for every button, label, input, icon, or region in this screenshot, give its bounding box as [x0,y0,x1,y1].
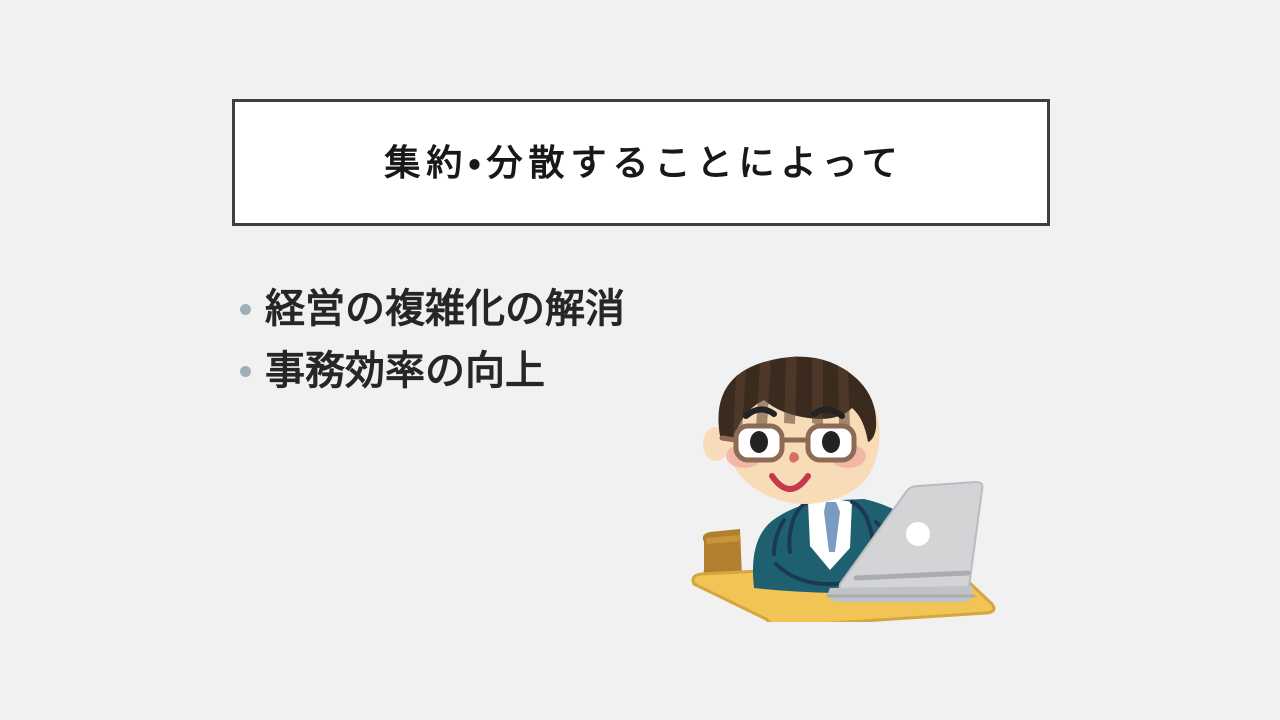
list-item: 事務効率の向上 [240,340,710,402]
list-item: 経営の複雑化の解消 [240,278,710,340]
businessman-laptop-illustration [680,352,1000,622]
bullet-list: 経営の複雑化の解消 事務効率の向上 [240,278,710,402]
slide-canvas: 集約・分散することによって 経営の複雑化の解消 事務効率の向上 [0,0,1280,720]
page-title: 集約・分散することによって [378,141,903,184]
bullet-dot-icon [240,366,251,377]
list-item-label: 事務効率の向上 [265,349,545,393]
businessman-laptop-svg [680,352,1000,622]
list-item-label: 経営の複雑化の解消 [265,287,625,331]
head-icon [703,356,880,504]
title-box: 集約・分散することによって [232,99,1050,226]
bullet-dot-icon [240,304,251,315]
